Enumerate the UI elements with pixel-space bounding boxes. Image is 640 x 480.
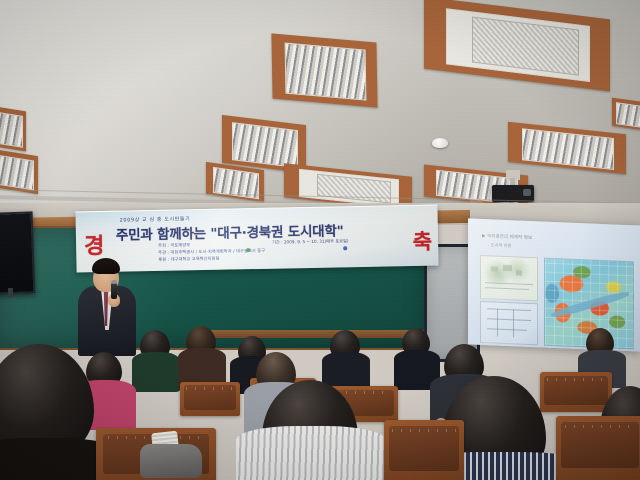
- air-vent-top-center: [271, 33, 377, 107]
- wall-monitor[interactable]: [0, 211, 35, 294]
- slide-bullet-line: ▶ 녹지공간의 체계적 확보: [482, 233, 532, 241]
- audience-body: [132, 352, 180, 392]
- smoke-detector: [432, 138, 448, 148]
- lecture-chair-front: [556, 416, 640, 480]
- architectural-plan-drawing: [480, 301, 538, 345]
- organizer-logo-green-icon: [246, 248, 250, 252]
- lecture-chair: [180, 382, 240, 416]
- air-vent-left-upper: [0, 105, 26, 152]
- presenter-hair: [92, 258, 120, 274]
- banner-title: 주민과 함께하는 "대구·경북권 도시대학": [116, 219, 344, 243]
- air-vent-left-lower: [0, 148, 38, 194]
- banner-host-line: 주최 : 국토해양부: [158, 242, 190, 249]
- lecture-chair-front: [384, 420, 464, 480]
- monitor-mount: [8, 288, 13, 298]
- audience-body: [236, 426, 386, 480]
- lecture-hall-photo: 경 축 2009상 교 심 중 도시만들기 주민과 함께하는 "대구·경북권 도…: [0, 0, 640, 480]
- gray-bag: [140, 444, 202, 478]
- slide-sub-line: - 도시적 차원: [488, 242, 511, 249]
- event-banner: 경 축 2009상 교 심 중 도시만들기 주민과 함께하는 "대구·경북권 도…: [75, 205, 438, 273]
- banner-organizer-line: 주관 : 대한주택공사 / 도시·지역계획학과 / 대구광역시 중구: [158, 248, 265, 256]
- site-plan-drawing: [480, 255, 538, 301]
- lecture-chair: [540, 372, 612, 412]
- projection-screen: ▶ 녹지공간의 체계적 확보 - 도시적 차원: [468, 218, 640, 351]
- banner-superscript: 2009상 교 심 중 도시만들기: [120, 215, 191, 223]
- air-vent-far-right: [612, 98, 640, 131]
- microphone[interactable]: [111, 283, 117, 299]
- chalk-tray: [200, 330, 430, 338]
- banner-date: 기간 : 2009. 9. 5 ~ 10. 31(매주 토요일): [272, 238, 349, 245]
- banner-sponsor-line: 후원 : 대구대학교 교육혁신지원팀: [158, 256, 219, 263]
- organizer-logo-blue-icon: [343, 246, 347, 250]
- banner-right-char: 축: [412, 226, 432, 256]
- microphone-head-icon: [111, 280, 117, 284]
- projector-lens: [523, 189, 531, 196]
- banner-left-char: 경: [84, 228, 105, 260]
